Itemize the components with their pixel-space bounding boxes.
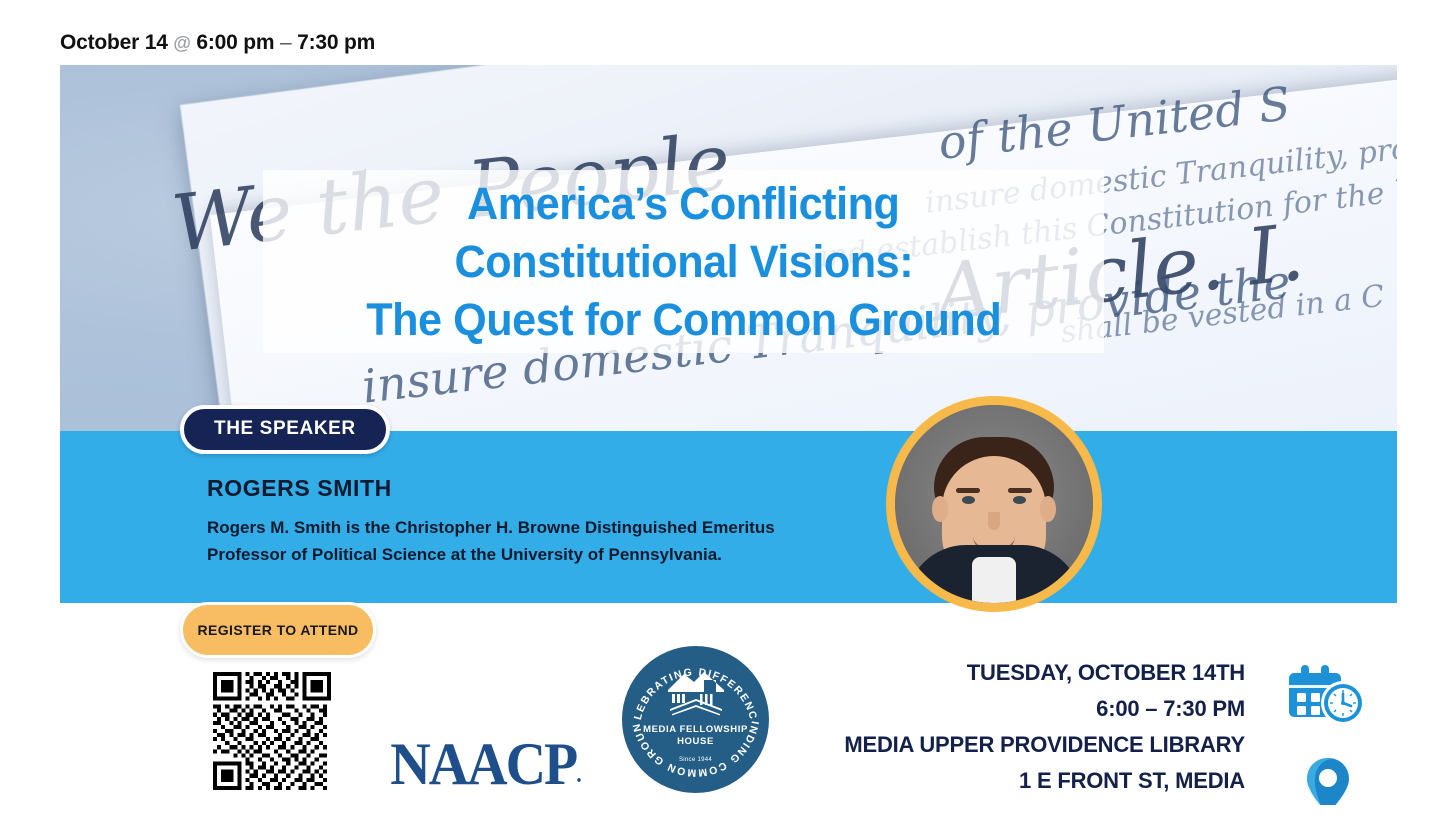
location-pin-icon (1301, 755, 1355, 805)
calendar-clock-icon (1287, 663, 1369, 727)
flyer-title-panel: America’s Conflicting Constitutional Vis… (263, 170, 1104, 353)
event-details-block: TUESDAY, OCTOBER 14TH 6:00 – 7:30 PM MED… (844, 655, 1245, 799)
event-detail-venue: MEDIA UPPER PROVIDENCE LIBRARY (844, 727, 1245, 763)
event-detail-day: TUESDAY, OCTOBER 14TH (844, 655, 1245, 691)
register-to-attend-button[interactable]: REGISTER TO ATTEND (180, 602, 376, 658)
event-time-start: 6:00 pm (196, 31, 274, 54)
seal-name-line-1: MEDIA FELLOWSHIP (622, 724, 769, 736)
seal-since-text: Since 1944 (622, 757, 769, 763)
naacp-text: NAACP (390, 731, 576, 798)
at-symbol: @ (173, 33, 190, 53)
title-line-2: Constitutional Visions: (454, 233, 913, 291)
script-line-2: of the United S (936, 76, 1294, 170)
avatar-shirt (972, 557, 1016, 609)
naacp-logo: NAACP. Media Area Branch (360, 737, 610, 805)
naacp-registered-mark: . (576, 760, 580, 787)
avatar-nose (988, 512, 1000, 530)
seal-center-text: MEDIA FELLOWSHIP HOUSE Since 1944 (622, 724, 769, 763)
media-fellowship-house-seal: · CELEBRATING DIFFERENCES · · FINDING CO… (622, 646, 769, 793)
constitution-background: We the People of the United S insure dom… (60, 65, 1397, 431)
speaker-avatar (886, 396, 1102, 612)
event-detail-time: 6:00 – 7:30 PM (844, 691, 1245, 727)
avatar-ear-right (1040, 496, 1056, 522)
speaker-name: ROGERS SMITH (207, 475, 392, 502)
event-datetime-header: October 14 @ 6:00 pm – 7:30 pm (60, 31, 375, 55)
event-date: October 14 (60, 31, 168, 54)
naacp-wordmark: NAACP. (360, 734, 610, 804)
seal-name-line-2: HOUSE (622, 736, 769, 748)
avatar-ear-left (932, 496, 948, 522)
speaker-bio: Rogers M. Smith is the Christopher H. Br… (207, 514, 827, 568)
avatar-brow-left (956, 488, 980, 493)
event-flyer-image: We the People of the United S insure dom… (60, 65, 1397, 805)
house-icon (664, 668, 728, 716)
event-detail-address: 1 E FRONT ST, MEDIA (844, 763, 1245, 799)
avatar-brow-right (1008, 488, 1032, 493)
event-time-end: 7:30 pm (297, 31, 375, 54)
time-range-dash: – (280, 31, 291, 54)
title-line-1: America’s Conflicting (467, 175, 899, 233)
title-line-3: The Quest for Common Ground (366, 291, 1001, 349)
qr-code[interactable] (213, 672, 331, 790)
speaker-badge: THE SPEAKER (180, 405, 390, 454)
